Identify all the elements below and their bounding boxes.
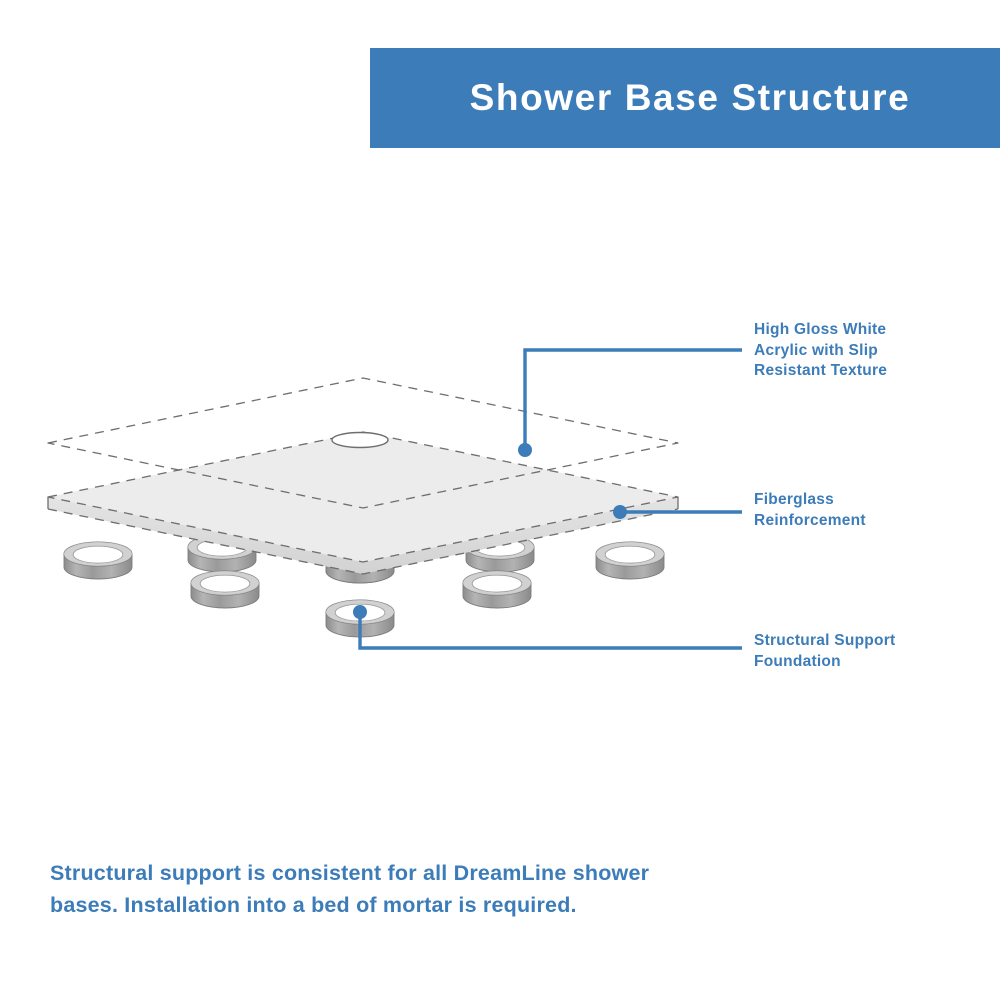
drain-opening-icon — [332, 433, 388, 448]
footer-caption: Structural support is consistent for all… — [50, 858, 670, 921]
support-ring — [596, 542, 664, 579]
callout-label-support: Structural Support Foundation — [754, 631, 984, 672]
callout-label-fiberglass: Fiberglass Reinforcement — [754, 490, 984, 531]
fiberglass-layer — [48, 432, 678, 574]
support-ring — [64, 542, 132, 579]
callout-label-acrylic: High Gloss White Acrylic with Slip Resis… — [754, 320, 984, 382]
callout-anchor-dot — [353, 605, 367, 619]
callout-anchor-dot — [518, 443, 532, 457]
callout-anchor-dot — [613, 505, 627, 519]
support-ring — [191, 571, 259, 608]
page-root: Shower Base Structure — [0, 0, 1000, 1000]
support-ring — [463, 571, 531, 608]
